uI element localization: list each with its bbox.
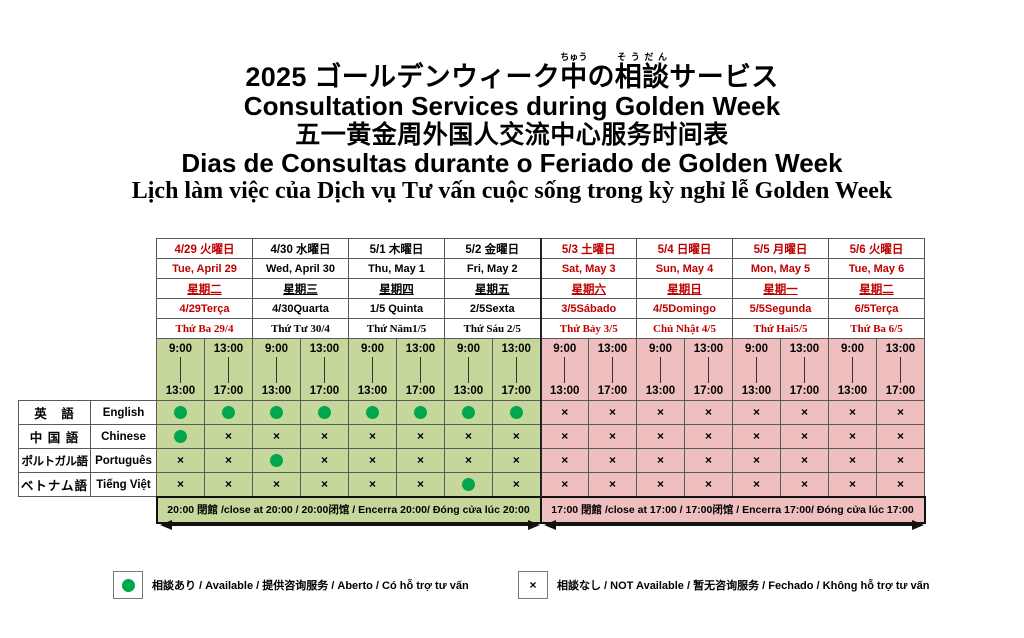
span-arrows-open bbox=[158, 520, 542, 530]
date-header-portuguese: 1/5 Quinta bbox=[349, 299, 445, 319]
availability-cell[interactable]: × bbox=[541, 449, 589, 473]
availability-cell[interactable]: × bbox=[349, 425, 397, 449]
slot-end-time: 13:00 bbox=[262, 385, 291, 397]
availability-cell[interactable]: × bbox=[301, 473, 349, 497]
availability-cell[interactable]: × bbox=[205, 449, 253, 473]
availability-cell[interactable]: × bbox=[829, 401, 877, 425]
availability-cell[interactable]: × bbox=[445, 449, 493, 473]
slot-end-time: 13:00 bbox=[646, 385, 675, 397]
header-spacer bbox=[91, 239, 157, 259]
unavailable-x-icon: × bbox=[529, 579, 536, 591]
available-dot-icon bbox=[462, 478, 475, 491]
notes-spacer bbox=[91, 497, 157, 523]
time-range-bar bbox=[180, 357, 181, 383]
availability-cell[interactable]: × bbox=[733, 425, 781, 449]
time-range-bar bbox=[660, 357, 661, 383]
time-slot-cell: 9:0013:00 bbox=[253, 339, 301, 401]
slot-start-time: 9:00 bbox=[457, 343, 480, 355]
ruby-chuu-reading: ちゅう bbox=[560, 52, 587, 62]
unavailable-x-icon: × bbox=[417, 429, 424, 443]
availability-cell[interactable]: × bbox=[493, 449, 541, 473]
availability-cell[interactable]: × bbox=[733, 449, 781, 473]
unavailable-x-icon: × bbox=[897, 453, 904, 467]
availability-cell[interactable]: × bbox=[397, 449, 445, 473]
available-dot-icon bbox=[270, 454, 283, 467]
schedule-table: 4/29 火曜日4/30 水曜日5/1 木曜日5/2 金曜日5/3 土曜日5/4… bbox=[18, 238, 926, 524]
availability-cell[interactable]: × bbox=[877, 401, 925, 425]
unavailable-x-icon: × bbox=[321, 429, 328, 443]
availability-cell[interactable] bbox=[253, 449, 301, 473]
slot-end-time: 17:00 bbox=[502, 385, 531, 397]
slot-end-time: 13:00 bbox=[838, 385, 867, 397]
availability-cell[interactable]: × bbox=[685, 425, 733, 449]
time-slot-cell: 9:0013:00 bbox=[349, 339, 397, 401]
language-label-ja: ポルトガル語 bbox=[19, 449, 91, 473]
title-japanese: 2025 ゴールデンウィーク中ちゅうの相談そうだんサービス bbox=[0, 52, 1024, 92]
header-spacer bbox=[91, 279, 157, 299]
title-block: 2025 ゴールデンウィーク中ちゅうの相談そうだんサービス Consultati… bbox=[0, 52, 1024, 205]
header-spacer bbox=[19, 319, 91, 339]
available-dot-icon bbox=[122, 579, 135, 592]
slot-end-time: 17:00 bbox=[310, 385, 339, 397]
legend-item-available: 相談あり / Available / 提供咨询服务 / Aberto / Có … bbox=[113, 570, 469, 600]
available-dot-icon bbox=[414, 406, 427, 419]
availability-cell[interactable]: × bbox=[541, 473, 589, 497]
ruby-chuu-base: 中 bbox=[560, 62, 587, 92]
unavailable-x-icon: × bbox=[753, 477, 760, 491]
unavailable-x-icon: × bbox=[801, 477, 808, 491]
header-row-english: Tue, April 29Wed, April 30Thu, May 1Fri,… bbox=[19, 259, 925, 279]
unavailable-x-icon: × bbox=[897, 405, 904, 419]
date-header-japanese: 5/4 日曜日 bbox=[637, 239, 733, 259]
unavailable-x-icon: × bbox=[609, 429, 616, 443]
time-slot-cell: 9:0013:00 bbox=[157, 339, 205, 401]
time-slot-cell: 9:0013:00 bbox=[445, 339, 493, 401]
time-slot-cell: 13:0017:00 bbox=[397, 339, 445, 401]
availability-cell[interactable]: × bbox=[829, 425, 877, 449]
unavailable-x-icon: × bbox=[561, 405, 568, 419]
date-header-vietnamese: Thứ Tư 30/4 bbox=[253, 319, 349, 339]
date-header-chinese: 星期日 bbox=[637, 279, 733, 299]
ruby-soudan: 相談そうだん bbox=[615, 62, 670, 92]
available-dot-icon bbox=[318, 406, 331, 419]
date-header-japanese: 5/3 土曜日 bbox=[541, 239, 637, 259]
time-slot-cell: 13:0017:00 bbox=[205, 339, 253, 401]
language-row: ポルトガル語Português××××××××××××××× bbox=[19, 449, 925, 473]
availability-cell[interactable]: × bbox=[877, 449, 925, 473]
unavailable-x-icon: × bbox=[465, 429, 472, 443]
header-spacer bbox=[19, 299, 91, 319]
date-header-portuguese: 4/30Quarta bbox=[253, 299, 349, 319]
title-japanese-pre: 2025 ゴールデンウィーク bbox=[245, 62, 560, 92]
time-row: 9:0013:0013:0017:009:0013:0013:0017:009:… bbox=[19, 339, 925, 401]
unavailable-x-icon: × bbox=[657, 405, 664, 419]
availability-cell[interactable]: × bbox=[253, 473, 301, 497]
slot-end-time: 17:00 bbox=[406, 385, 435, 397]
slot-start-time: 9:00 bbox=[265, 343, 288, 355]
unavailable-x-icon: × bbox=[561, 453, 568, 467]
availability-cell[interactable] bbox=[253, 401, 301, 425]
date-header-vietnamese: Thứ Bảy 3/5 bbox=[541, 319, 637, 339]
unavailable-x-icon: × bbox=[849, 429, 856, 443]
availability-cell[interactable]: × bbox=[781, 473, 829, 497]
date-header-portuguese: 5/5Segunda bbox=[733, 299, 829, 319]
unavailable-x-icon: × bbox=[801, 405, 808, 419]
unavailable-x-icon: × bbox=[561, 429, 568, 443]
date-header-chinese: 星期四 bbox=[349, 279, 445, 299]
time-range-bar bbox=[420, 357, 421, 383]
unavailable-x-icon: × bbox=[705, 405, 712, 419]
slot-start-time: 9:00 bbox=[361, 343, 384, 355]
legend-available-label: 相談あり / Available / 提供咨询服务 / Aberto / Có … bbox=[152, 577, 469, 593]
slot-start-time: 9:00 bbox=[745, 343, 768, 355]
language-row: ベトナム語Tiếng Việt××××××××××××××× bbox=[19, 473, 925, 497]
header-row-portuguese: 4/29Terça4/30Quarta1/5 Quinta2/5Sexta3/5… bbox=[19, 299, 925, 319]
date-header-japanese: 5/2 金曜日 bbox=[445, 239, 541, 259]
unavailable-x-icon: × bbox=[705, 453, 712, 467]
date-header-chinese: 星期五 bbox=[445, 279, 541, 299]
unavailable-x-icon: × bbox=[609, 453, 616, 467]
header-spacer bbox=[19, 279, 91, 299]
date-header-japanese: 5/5 月曜日 bbox=[733, 239, 829, 259]
slot-end-time: 13:00 bbox=[742, 385, 771, 397]
availability-cell[interactable]: × bbox=[685, 449, 733, 473]
closing-note-closed-block: 17:00 閉館 /close at 17:00 / 17:00闭馆 / Enc… bbox=[541, 497, 925, 523]
unavailable-x-icon: × bbox=[849, 405, 856, 419]
slot-start-time: 9:00 bbox=[841, 343, 864, 355]
availability-cell[interactable]: × bbox=[637, 449, 685, 473]
time-spacer bbox=[19, 339, 91, 401]
availability-cell[interactable]: × bbox=[157, 449, 205, 473]
schedule-poster: 2025 ゴールデンウィーク中ちゅうの相談そうだんサービス Consultati… bbox=[0, 0, 1024, 638]
availability-cell[interactable]: × bbox=[157, 473, 205, 497]
availability-cell[interactable] bbox=[397, 401, 445, 425]
unavailable-x-icon: × bbox=[417, 453, 424, 467]
time-range-bar bbox=[804, 357, 805, 383]
time-slot-cell: 13:0017:00 bbox=[301, 339, 349, 401]
availability-cell[interactable]: × bbox=[301, 449, 349, 473]
date-header-chinese: 星期六 bbox=[541, 279, 637, 299]
header-spacer bbox=[19, 239, 91, 259]
unavailable-x-icon: × bbox=[513, 453, 520, 467]
unavailable-x-icon: × bbox=[321, 453, 328, 467]
legend-swatch-available bbox=[113, 571, 143, 599]
availability-cell[interactable]: × bbox=[349, 473, 397, 497]
header-row-vietnamese: Thứ Ba 29/4Thứ Tư 30/4Thứ Năm1/5Thứ Sáu … bbox=[19, 319, 925, 339]
time-range-bar bbox=[900, 357, 901, 383]
legend: 相談あり / Available / 提供咨询服务 / Aberto / Có … bbox=[0, 570, 1024, 606]
slot-start-time: 13:00 bbox=[886, 343, 915, 355]
availability-cell[interactable] bbox=[301, 401, 349, 425]
slot-start-time: 9:00 bbox=[169, 343, 192, 355]
availability-cell[interactable]: × bbox=[589, 401, 637, 425]
slot-end-time: 13:00 bbox=[166, 385, 195, 397]
unavailable-x-icon: × bbox=[177, 453, 184, 467]
available-dot-icon bbox=[222, 406, 235, 419]
unavailable-x-icon: × bbox=[225, 477, 232, 491]
closing-note-open-text: 20:00 閉館 /close at 20:00 / 20:00闭馆 / Enc… bbox=[167, 504, 529, 516]
time-range-bar bbox=[852, 357, 853, 383]
ruby-soudan-reading: そうだん bbox=[615, 52, 670, 62]
time-slot-cell: 13:0017:00 bbox=[493, 339, 541, 401]
date-header-chinese: 星期二 bbox=[157, 279, 253, 299]
unavailable-x-icon: × bbox=[849, 477, 856, 491]
header-spacer bbox=[91, 259, 157, 279]
unavailable-x-icon: × bbox=[513, 477, 520, 491]
availability-cell[interactable] bbox=[493, 401, 541, 425]
title-vietnamese: Lịch làm việc của Dịch vụ Tư vấn cuộc số… bbox=[0, 178, 1024, 205]
available-dot-icon bbox=[510, 406, 523, 419]
time-range-bar bbox=[468, 357, 469, 383]
unavailable-x-icon: × bbox=[705, 477, 712, 491]
date-header-japanese: 5/6 火曜日 bbox=[829, 239, 925, 259]
availability-cell[interactable]: × bbox=[781, 425, 829, 449]
availability-cell[interactable]: × bbox=[349, 449, 397, 473]
available-dot-icon bbox=[462, 406, 475, 419]
availability-cell[interactable]: × bbox=[829, 449, 877, 473]
time-slot-cell: 9:0013:00 bbox=[637, 339, 685, 401]
availability-cell[interactable]: × bbox=[733, 401, 781, 425]
available-dot-icon bbox=[174, 430, 187, 443]
date-header-japanese: 4/30 水曜日 bbox=[253, 239, 349, 259]
unavailable-x-icon: × bbox=[273, 429, 280, 443]
time-slot-cell: 9:0013:00 bbox=[733, 339, 781, 401]
date-header-japanese: 4/29 火曜日 bbox=[157, 239, 253, 259]
time-spacer bbox=[91, 339, 157, 401]
time-range-bar bbox=[612, 357, 613, 383]
availability-cell[interactable]: × bbox=[637, 473, 685, 497]
legend-unavailable-label: 相談なし / NOT Available / 暂无咨询服务 / Fechado … bbox=[557, 577, 930, 593]
title-japanese-mid: の bbox=[587, 62, 614, 92]
slot-end-time: 13:00 bbox=[358, 385, 387, 397]
header-row-chinese: 星期二星期三星期四星期五星期六星期日星期一星期二 bbox=[19, 279, 925, 299]
availability-cell[interactable] bbox=[349, 401, 397, 425]
availability-cell[interactable] bbox=[157, 425, 205, 449]
unavailable-x-icon: × bbox=[321, 477, 328, 491]
time-range-bar bbox=[372, 357, 373, 383]
language-row: 中 国 語Chinese××××××××××××××× bbox=[19, 425, 925, 449]
header-row-japanese: 4/29 火曜日4/30 水曜日5/1 木曜日5/2 金曜日5/3 土曜日5/4… bbox=[19, 239, 925, 259]
date-header-chinese: 星期二 bbox=[829, 279, 925, 299]
availability-cell[interactable]: × bbox=[205, 425, 253, 449]
time-slot-cell: 9:0013:00 bbox=[541, 339, 589, 401]
time-range-bar bbox=[276, 357, 277, 383]
date-header-portuguese: 3/5Sábado bbox=[541, 299, 637, 319]
availability-cell[interactable]: × bbox=[493, 425, 541, 449]
date-header-english: Wed, April 30 bbox=[253, 259, 349, 279]
language-label-ja: 英 語 bbox=[19, 401, 91, 425]
date-header-chinese: 星期三 bbox=[253, 279, 349, 299]
time-slot-cell: 9:0013:00 bbox=[829, 339, 877, 401]
unavailable-x-icon: × bbox=[225, 453, 232, 467]
available-dot-icon bbox=[270, 406, 283, 419]
unavailable-x-icon: × bbox=[369, 453, 376, 467]
closing-note-closed-text: 17:00 閉館 /close at 17:00 / 17:00闭馆 / Enc… bbox=[551, 504, 913, 516]
unavailable-x-icon: × bbox=[849, 453, 856, 467]
date-header-vietnamese: Thứ Năm1/5 bbox=[349, 319, 445, 339]
availability-cell[interactable] bbox=[157, 401, 205, 425]
language-label-ja: ベトナム語 bbox=[19, 473, 91, 497]
time-slot-cell: 13:0017:00 bbox=[781, 339, 829, 401]
unavailable-x-icon: × bbox=[465, 453, 472, 467]
unavailable-x-icon: × bbox=[609, 405, 616, 419]
unavailable-x-icon: × bbox=[657, 477, 664, 491]
available-dot-icon bbox=[366, 406, 379, 419]
date-header-chinese: 星期一 bbox=[733, 279, 829, 299]
availability-cell[interactable]: × bbox=[541, 401, 589, 425]
availability-cell[interactable]: × bbox=[397, 473, 445, 497]
unavailable-x-icon: × bbox=[513, 429, 520, 443]
unavailable-x-icon: × bbox=[273, 477, 280, 491]
slot-start-time: 13:00 bbox=[790, 343, 819, 355]
availability-cell[interactable] bbox=[445, 401, 493, 425]
slot-start-time: 9:00 bbox=[649, 343, 672, 355]
title-japanese-post: サービス bbox=[669, 62, 778, 92]
time-slot-cell: 13:0017:00 bbox=[685, 339, 733, 401]
slot-end-time: 13:00 bbox=[550, 385, 579, 397]
slot-start-time: 13:00 bbox=[214, 343, 243, 355]
unavailable-x-icon: × bbox=[225, 429, 232, 443]
ruby-chuu: 中ちゅう bbox=[560, 62, 587, 92]
date-header-vietnamese: Thứ Hai5/5 bbox=[733, 319, 829, 339]
slot-start-time: 13:00 bbox=[598, 343, 627, 355]
date-header-vietnamese: Thứ Ba 29/4 bbox=[157, 319, 253, 339]
header-spacer bbox=[91, 299, 157, 319]
unavailable-x-icon: × bbox=[561, 477, 568, 491]
unavailable-x-icon: × bbox=[897, 429, 904, 443]
language-label-ja: 中 国 語 bbox=[19, 425, 91, 449]
unavailable-x-icon: × bbox=[657, 429, 664, 443]
time-range-bar bbox=[516, 357, 517, 383]
slot-start-time: 13:00 bbox=[694, 343, 723, 355]
time-slot-cell: 13:0017:00 bbox=[589, 339, 637, 401]
header-spacer bbox=[19, 259, 91, 279]
unavailable-x-icon: × bbox=[801, 429, 808, 443]
span-arrows-closed bbox=[542, 520, 926, 530]
slot-end-time: 17:00 bbox=[790, 385, 819, 397]
availability-cell[interactable]: × bbox=[637, 401, 685, 425]
date-header-english: Mon, May 5 bbox=[733, 259, 829, 279]
title-portuguese: Dias de Consultas durante o Feriado de G… bbox=[0, 149, 1024, 178]
availability-cell[interactable] bbox=[445, 473, 493, 497]
notes-row: 20:00 閉館 /close at 20:00 / 20:00闭馆 / Enc… bbox=[19, 497, 925, 523]
unavailable-x-icon: × bbox=[609, 477, 616, 491]
date-header-english: Sun, May 4 bbox=[637, 259, 733, 279]
date-header-english: Sat, May 3 bbox=[541, 259, 637, 279]
availability-cell[interactable]: × bbox=[445, 425, 493, 449]
availability-cell[interactable]: × bbox=[493, 473, 541, 497]
unavailable-x-icon: × bbox=[657, 453, 664, 467]
availability-cell[interactable] bbox=[205, 401, 253, 425]
time-range-bar bbox=[564, 357, 565, 383]
slot-start-time: 9:00 bbox=[553, 343, 576, 355]
availability-cell[interactable]: × bbox=[781, 449, 829, 473]
date-header-japanese: 5/1 木曜日 bbox=[349, 239, 445, 259]
availability-cell[interactable]: × bbox=[205, 473, 253, 497]
date-header-english: Tue, April 29 bbox=[157, 259, 253, 279]
availability-cell[interactable]: × bbox=[253, 425, 301, 449]
time-range-bar bbox=[756, 357, 757, 383]
date-header-portuguese: 6/5Terça bbox=[829, 299, 925, 319]
availability-cell[interactable]: × bbox=[589, 449, 637, 473]
unavailable-x-icon: × bbox=[369, 429, 376, 443]
date-header-vietnamese: Thứ Ba 6/5 bbox=[829, 319, 925, 339]
slot-end-time: 17:00 bbox=[214, 385, 243, 397]
notes-spacer bbox=[19, 497, 91, 523]
language-label-en: Tiếng Việt bbox=[91, 473, 157, 497]
time-range-bar bbox=[708, 357, 709, 383]
slot-start-time: 13:00 bbox=[502, 343, 531, 355]
availability-cell[interactable]: × bbox=[685, 473, 733, 497]
unavailable-x-icon: × bbox=[177, 477, 184, 491]
legend-item-unavailable: × 相談なし / NOT Available / 暂无咨询服务 / Fechad… bbox=[518, 570, 930, 600]
slot-end-time: 17:00 bbox=[886, 385, 915, 397]
slot-start-time: 13:00 bbox=[406, 343, 435, 355]
unavailable-x-icon: × bbox=[417, 477, 424, 491]
time-slot-cell: 13:0017:00 bbox=[877, 339, 925, 401]
unavailable-x-icon: × bbox=[705, 429, 712, 443]
date-header-english: Tue, May 6 bbox=[829, 259, 925, 279]
language-row: 英 語English×××××××× bbox=[19, 401, 925, 425]
slot-start-time: 13:00 bbox=[310, 343, 339, 355]
date-header-english: Fri, May 2 bbox=[445, 259, 541, 279]
availability-cell[interactable]: × bbox=[589, 473, 637, 497]
language-label-en: Chinese bbox=[91, 425, 157, 449]
header-spacer bbox=[91, 319, 157, 339]
availability-cell[interactable]: × bbox=[397, 425, 445, 449]
slot-end-time: 17:00 bbox=[694, 385, 723, 397]
availability-cell[interactable]: × bbox=[781, 401, 829, 425]
unavailable-x-icon: × bbox=[753, 453, 760, 467]
title-english: Consultation Services during Golden Week bbox=[0, 92, 1024, 121]
availability-cell[interactable]: × bbox=[541, 425, 589, 449]
date-header-vietnamese: Thứ Sáu 2/5 bbox=[445, 319, 541, 339]
availability-cell[interactable]: × bbox=[685, 401, 733, 425]
language-label-en: English bbox=[91, 401, 157, 425]
slot-end-time: 13:00 bbox=[454, 385, 483, 397]
slot-end-time: 17:00 bbox=[598, 385, 627, 397]
availability-cell[interactable]: × bbox=[637, 425, 685, 449]
availability-cell[interactable]: × bbox=[733, 473, 781, 497]
date-header-vietnamese: Chủ Nhật 4/5 bbox=[637, 319, 733, 339]
language-label-en: Português bbox=[91, 449, 157, 473]
legend-swatch-unavailable: × bbox=[518, 571, 548, 599]
unavailable-x-icon: × bbox=[369, 477, 376, 491]
availability-cell[interactable]: × bbox=[589, 425, 637, 449]
date-header-portuguese: 4/29Terça bbox=[157, 299, 253, 319]
time-range-bar bbox=[324, 357, 325, 383]
availability-cell[interactable]: × bbox=[877, 425, 925, 449]
date-header-portuguese: 4/5Domingo bbox=[637, 299, 733, 319]
title-chinese: 五一黄金周外国人交流中心服务时间表 bbox=[0, 121, 1024, 149]
availability-cell[interactable]: × bbox=[877, 473, 925, 497]
ruby-soudan-base: 相談 bbox=[615, 62, 670, 92]
unavailable-x-icon: × bbox=[753, 405, 760, 419]
closing-note-open-block: 20:00 閉館 /close at 20:00 / 20:00闭馆 / Enc… bbox=[157, 497, 541, 523]
unavailable-x-icon: × bbox=[897, 477, 904, 491]
availability-cell[interactable]: × bbox=[301, 425, 349, 449]
availability-cell[interactable]: × bbox=[829, 473, 877, 497]
available-dot-icon bbox=[174, 406, 187, 419]
unavailable-x-icon: × bbox=[801, 453, 808, 467]
unavailable-x-icon: × bbox=[753, 429, 760, 443]
date-header-portuguese: 2/5Sexta bbox=[445, 299, 541, 319]
date-header-english: Thu, May 1 bbox=[349, 259, 445, 279]
time-range-bar bbox=[228, 357, 229, 383]
